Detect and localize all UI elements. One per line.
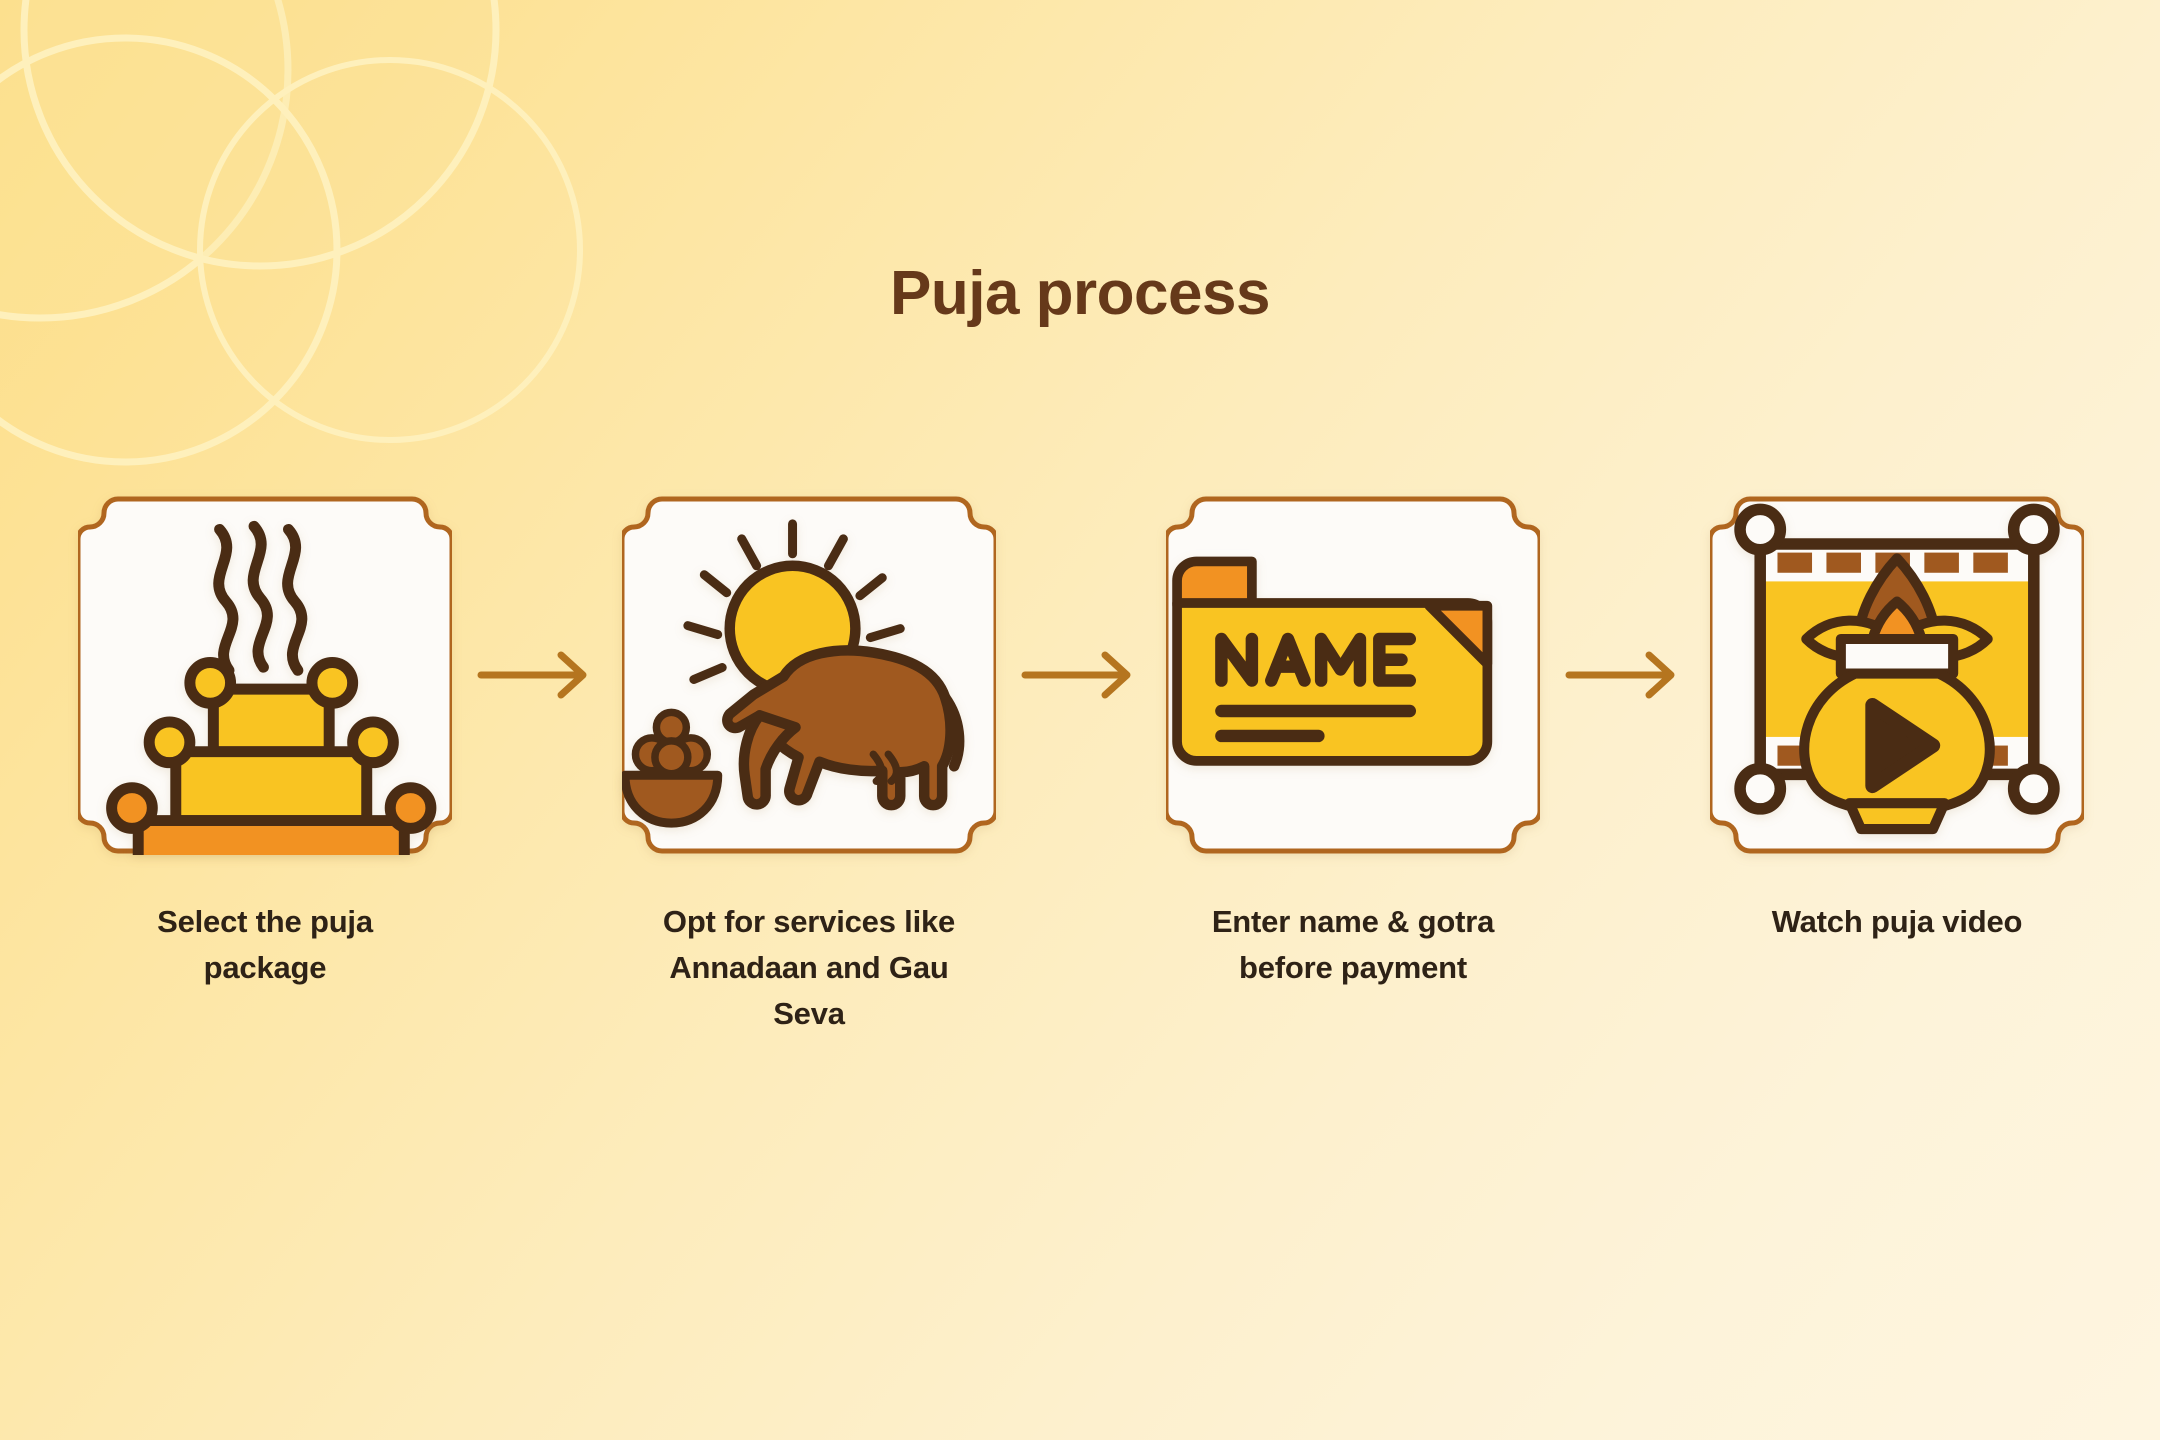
puja-altar-icon [78, 495, 452, 855]
cow-seva-icon [622, 495, 996, 855]
arrow-step-3-to-4 [1540, 495, 1710, 855]
step-3-caption: Enter name & gotra before payment [1166, 899, 1540, 991]
arrow-step-2-to-3 [996, 495, 1166, 855]
step-3-card[interactable] [1166, 495, 1540, 855]
name-card-icon [1166, 495, 1540, 855]
arrow-right-icon [477, 645, 597, 705]
step-4-card[interactable] [1710, 495, 2084, 855]
page-title: Puja process [0, 258, 2160, 329]
step-2-card[interactable] [622, 495, 996, 855]
puja-process-flow: Select the puja package [78, 495, 2082, 1037]
process-step-1[interactable]: Select the puja package [78, 495, 452, 991]
step-1-card[interactable] [78, 495, 452, 855]
arrow-step-1-to-2 [452, 495, 622, 855]
step-4-caption: Watch puja video [1710, 899, 2084, 945]
arrow-right-icon [1565, 645, 1685, 705]
step-1-caption: Select the puja package [78, 899, 452, 991]
process-step-4[interactable]: Watch puja video [1710, 495, 2084, 945]
process-step-2[interactable]: Opt for services like Annadaan and Gau S… [622, 495, 996, 1037]
puja-video-icon [1710, 495, 2084, 855]
process-step-3[interactable]: Enter name & gotra before payment [1166, 495, 1540, 991]
arrow-right-icon [1021, 645, 1141, 705]
step-2-caption: Opt for services like Annadaan and Gau S… [622, 899, 996, 1037]
